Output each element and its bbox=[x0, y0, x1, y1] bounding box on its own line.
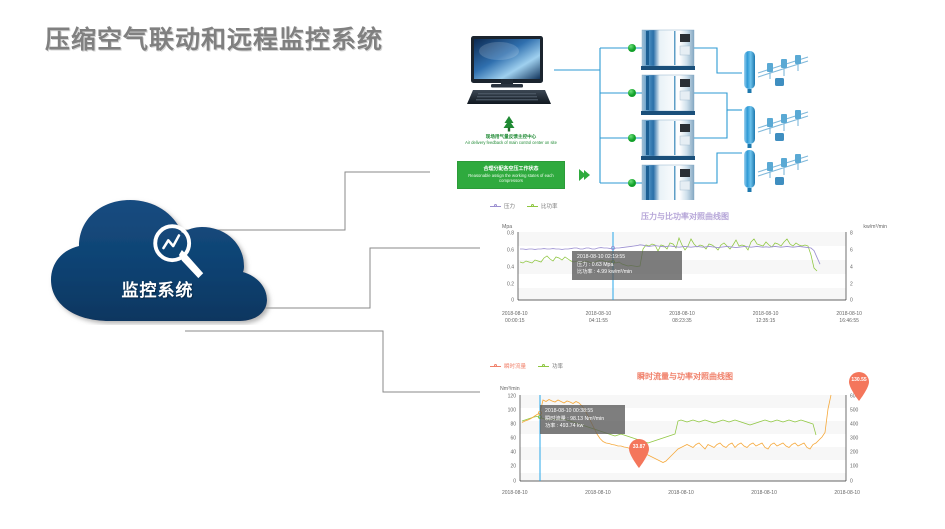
svg-text:400: 400 bbox=[850, 422, 859, 428]
legend-item-specific-power[interactable]: 比功率 bbox=[527, 202, 558, 210]
chart1-plot: 0.8 0.6 0.4 0.2 0 8 6 4 2 0 bbox=[480, 230, 890, 308]
svg-text:80: 80 bbox=[510, 422, 516, 428]
chart2-xtick: 2018-08-10 bbox=[834, 490, 860, 497]
chart2-y-unit: Nm³/min bbox=[500, 386, 520, 392]
chart2-xtick: 2018-08-10 bbox=[751, 490, 777, 497]
chart2-xtick: 2018-08-10 bbox=[668, 490, 694, 497]
svg-text:0.4: 0.4 bbox=[507, 265, 514, 271]
chart2-min-marker-pin[interactable]: 33.87 bbox=[628, 439, 650, 469]
svg-text:20: 20 bbox=[510, 464, 516, 470]
svg-text:4: 4 bbox=[850, 265, 853, 271]
chart1-tooltip-time: 2018-08-10 02:19:55 bbox=[577, 254, 677, 262]
legend-swatch-pressure bbox=[490, 206, 501, 207]
chart2-title: 瞬时流量与功率对照曲线图 bbox=[480, 371, 890, 382]
slide-root: 压缩空气联动和远程监控系统 bbox=[0, 0, 945, 529]
legend-item-pressure[interactable]: 压力 bbox=[490, 202, 515, 210]
piping-network bbox=[432, 18, 937, 210]
svg-text:2: 2 bbox=[850, 282, 853, 288]
chart1-tooltip-specific-power: 比功率 : 4.99 kw/m³/min bbox=[577, 269, 677, 277]
monitoring-cloud[interactable]: 监控系统 bbox=[35, 190, 285, 325]
svg-text:0.6: 0.6 bbox=[507, 248, 514, 254]
svg-text:0: 0 bbox=[511, 298, 514, 304]
chart1-xtick: 2018-08-1012:35:15 bbox=[753, 311, 779, 324]
svg-text:6: 6 bbox=[850, 248, 853, 254]
svg-text:100: 100 bbox=[850, 464, 859, 470]
legend-swatch-flow bbox=[490, 366, 501, 367]
chart1-xtick: 2018-08-1004:11:55 bbox=[586, 311, 612, 324]
legend-label-flow: 瞬时流量 bbox=[504, 362, 526, 370]
chart2-max-marker-label: 130.55 bbox=[848, 377, 870, 383]
svg-text:200: 200 bbox=[850, 450, 859, 456]
chart2-xtick: 2018-08-10 bbox=[585, 490, 611, 497]
legend-label-specific-power: 比功率 bbox=[541, 202, 558, 210]
legend-swatch-power bbox=[538, 366, 549, 367]
chart2-legend: 瞬时流量 功率 bbox=[490, 362, 563, 370]
flow-vs-power-chart[interactable]: 瞬时流量 功率 瞬时流量与功率对照曲线图 Nm³/min 120 100 80 … bbox=[480, 360, 890, 510]
chart2-x-axis-labels: 2018-08-10 2018-08-10 2018-08-10 2018-08… bbox=[502, 490, 860, 497]
chart1-tooltip-pressure: 压力 : 0.63 Mpa bbox=[577, 262, 677, 270]
legend-item-flow[interactable]: 瞬时流量 bbox=[490, 362, 526, 370]
svg-text:0: 0 bbox=[850, 479, 853, 485]
legend-item-power[interactable]: 功率 bbox=[538, 362, 563, 370]
chart1-x-axis-labels: 2018-08-1000:00:15 2018-08-1004:11:55 20… bbox=[502, 311, 862, 324]
svg-text:120: 120 bbox=[508, 394, 517, 400]
legend-swatch-specific-power bbox=[527, 206, 538, 207]
svg-text:500: 500 bbox=[850, 408, 859, 414]
legend-label-power: 功率 bbox=[552, 362, 563, 370]
chart2-xtick: 2018-08-10 bbox=[502, 490, 528, 497]
chart2-tooltip-time: 2018-08-10 00:38:55 bbox=[545, 408, 620, 416]
chart2-tooltip: 2018-08-10 00:38:55 瞬时流量 : 98.13 Nm³/min… bbox=[540, 405, 625, 434]
chart1-xtick: 2018-08-1000:00:15 bbox=[502, 311, 528, 324]
chart2-max-marker-pin[interactable]: 130.55 bbox=[848, 372, 870, 402]
svg-text:8: 8 bbox=[850, 231, 853, 237]
svg-text:300: 300 bbox=[850, 436, 859, 442]
svg-text:40: 40 bbox=[510, 450, 516, 456]
pressure-vs-specific-power-chart[interactable]: 压力 比功率 压力与比功率对照曲线图 Mpa kw/m³/min 0.8 0.6… bbox=[480, 200, 890, 332]
chart2-min-marker-label: 33.87 bbox=[628, 444, 650, 450]
chart2-tooltip-power: 功率 : 493.74 kw bbox=[545, 423, 620, 431]
chart1-title: 压力与比功率对照曲线图 bbox=[480, 211, 890, 222]
svg-text:0.8: 0.8 bbox=[507, 231, 514, 237]
cloud-label: 监控系统 bbox=[35, 276, 280, 301]
svg-text:0: 0 bbox=[513, 479, 516, 485]
svg-text:60: 60 bbox=[510, 436, 516, 442]
chart1-xtick: 2018-08-1008:23:35 bbox=[669, 311, 695, 324]
page-title: 压缩空气联动和远程监控系统 bbox=[45, 20, 383, 56]
svg-text:0: 0 bbox=[850, 298, 853, 304]
svg-text:100: 100 bbox=[508, 408, 517, 414]
svg-text:0.2: 0.2 bbox=[507, 282, 514, 288]
chart1-xtick: 2018-08-1016:46:55 bbox=[836, 311, 862, 324]
chart1-tooltip: 2018-08-10 02:19:55 压力 : 0.63 Mpa 比功率 : … bbox=[572, 251, 682, 280]
chart2-tooltip-flow: 瞬时流量 : 98.13 Nm³/min bbox=[545, 416, 620, 424]
chart-magnifier-icon bbox=[147, 218, 209, 280]
legend-label-pressure: 压力 bbox=[504, 202, 515, 210]
chart1-legend: 压力 比功率 bbox=[490, 202, 558, 210]
compressed-air-system-diagram[interactable]: 现场用气量反馈主控中心 Air delivery feedback of mai… bbox=[432, 18, 937, 210]
